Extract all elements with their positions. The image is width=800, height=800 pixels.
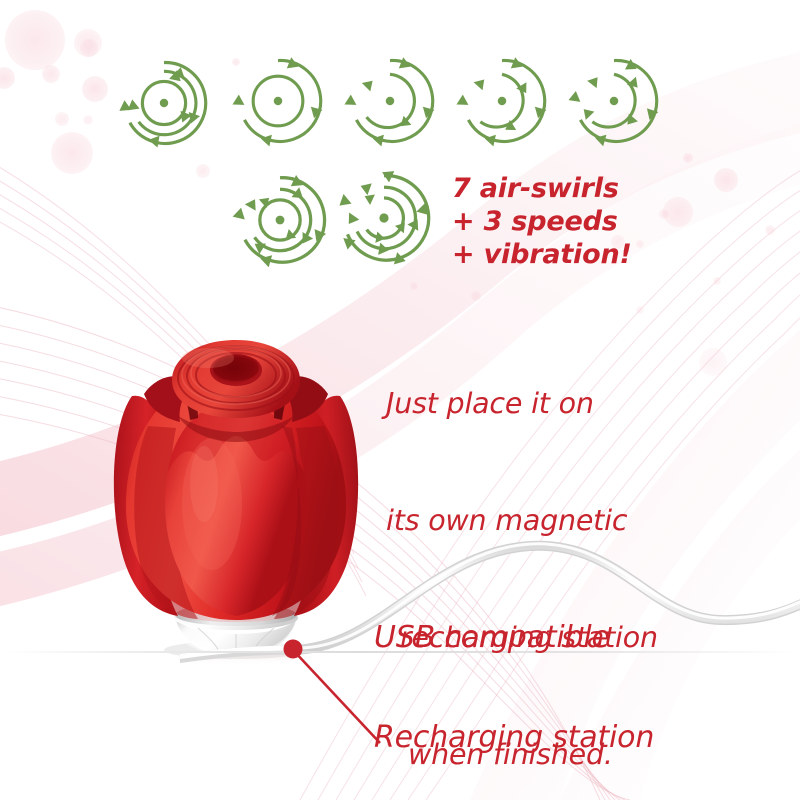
callout-dot xyxy=(284,640,303,659)
swirl-center-dot xyxy=(274,97,282,105)
swirl-center-dot xyxy=(276,216,285,225)
infographic-canvas: 7 air-swirls + 3 speeds + vibration! xyxy=(0,0,800,800)
swirl-center-dot xyxy=(386,97,394,105)
swirl-center-dot xyxy=(160,99,168,107)
air-swirl-icon-1 xyxy=(118,57,210,149)
air-swirl-icon-6 xyxy=(232,172,328,268)
recharging-station-label: Recharging station xyxy=(374,720,654,755)
air-swirl-icon-3 xyxy=(344,55,436,147)
air-swirl-icon-2 xyxy=(232,55,324,147)
recharging-station-callout xyxy=(270,635,410,755)
main-copy-line-1: Just place it on xyxy=(386,384,673,423)
spec-callout-text: 7 air-swirls + 3 speeds + vibration! xyxy=(452,172,632,271)
swirl-center-dot xyxy=(379,213,388,222)
air-swirl-icon-7 xyxy=(336,170,432,266)
air-swirl-icon-4 xyxy=(456,55,548,147)
main-copy-line-2: its own magnetic xyxy=(386,501,673,540)
swirl-center-dot xyxy=(610,97,618,105)
swirl-center-dot xyxy=(498,97,506,105)
air-swirl-icon-5 xyxy=(568,55,660,147)
